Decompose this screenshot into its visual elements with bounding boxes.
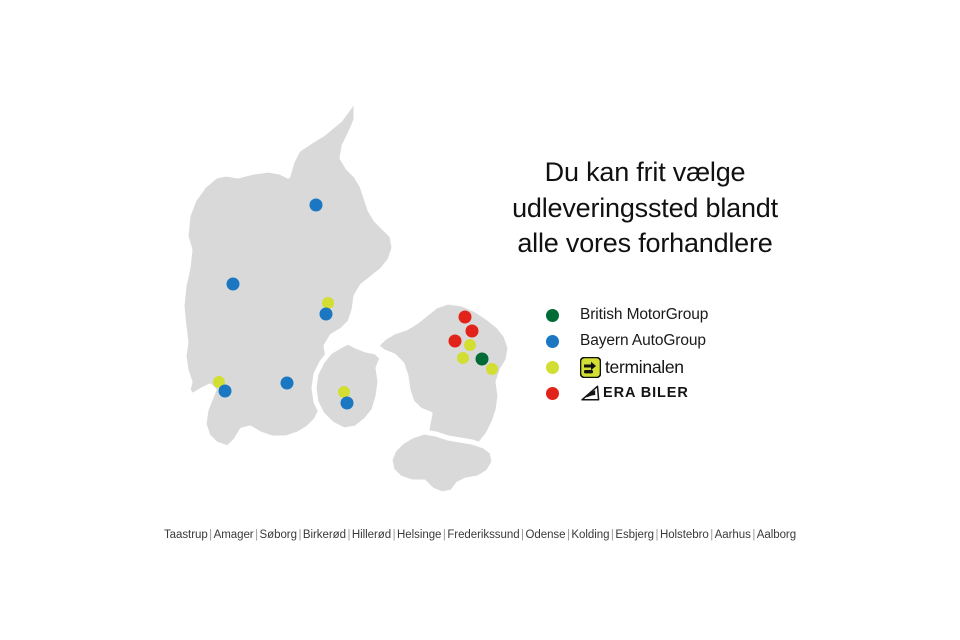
legend-label-british-motorgroup: British MotorGroup	[580, 306, 708, 324]
map-marker-odense-terminalen[interactable]: terminalen	[338, 386, 350, 398]
map-marker-soborg-terminalen[interactable]: terminalen	[457, 352, 469, 364]
city-name-aarhus: Aarhus	[715, 529, 751, 541]
city-name-holstebro: Holstebro	[660, 529, 709, 541]
legend-item-era-biler: ERA BILER	[546, 381, 826, 405]
map-marker-aalborg-bayern[interactable]: Bayern AutoGroup	[310, 199, 323, 212]
map-marker-soborg-british[interactable]: British MotorGroup	[476, 353, 489, 366]
legend-label-bayern-autogroup: Bayern AutoGroup	[580, 332, 706, 350]
map-marker-kolding-bayern[interactable]: Bayern AutoGroup	[281, 377, 294, 390]
city-name-amager: Amager	[214, 529, 254, 541]
map-marker-amager-terminalen[interactable]: terminalen	[486, 363, 498, 375]
legend-item-bayern-autogroup: Bayern AutoGroup	[546, 329, 826, 353]
terminalen-logo: terminalen	[580, 356, 684, 378]
map-marker-helsinge-era[interactable]: ERA BILER	[459, 311, 472, 324]
terminalen-wordmark: terminalen	[605, 357, 684, 378]
map-marker-holstebro-bayern[interactable]: Bayern AutoGroup	[227, 278, 240, 291]
terminalen-square-icon	[580, 357, 601, 378]
city-name-helsinge: Helsinge	[397, 529, 441, 541]
legend-item-terminalen: terminalen	[546, 355, 826, 379]
city-name-taastrup: Taastrup	[164, 529, 208, 541]
city-name-hillerød: Hillerød	[352, 529, 391, 541]
headline-line-2: udleveringssted blandt	[470, 191, 820, 227]
headline-line-3: alle vores forhandlere	[470, 226, 820, 262]
city-name-esbjerg: Esbjerg	[615, 529, 654, 541]
city-name-kolding: Kolding	[571, 529, 609, 541]
legend-item-british-motorgroup: British MotorGroup	[546, 303, 826, 327]
map-marker-frederikssund-era[interactable]: ERA BILER	[449, 335, 462, 348]
map-marker-esbjerg-bayern[interactable]: Bayern AutoGroup	[219, 385, 232, 398]
map-marker-hillerod-era[interactable]: ERA BILER	[466, 325, 479, 338]
map-legend: British MotorGroup Bayern AutoGroup term…	[546, 303, 826, 407]
map-svg: Denmark dealer location map Bayern AutoG…	[180, 90, 530, 500]
map-marker-odense-bayern[interactable]: Bayern AutoGroup	[341, 397, 354, 410]
map-marker-aarhus-terminalen[interactable]: terminalen	[322, 297, 334, 309]
map-marker-birkerod-terminalen[interactable]: terminalen	[464, 339, 476, 351]
denmark-map: Denmark dealer location map Bayern AutoG…	[180, 90, 530, 500]
city-name-odense: Odense	[525, 529, 565, 541]
city-name-frederikssund: Frederikssund	[447, 529, 519, 541]
era-biler-logo: ERA BILER	[580, 382, 689, 404]
map-landmasses	[182, 98, 510, 494]
legend-dot-blue	[546, 335, 559, 348]
poster-root: Denmark dealer location map Bayern AutoG…	[0, 0, 960, 640]
city-list: Taastrup|Amager|Søborg|Birkerød|Hillerød…	[0, 529, 960, 541]
page-title: Du kan frit vælge udleveringssted blandt…	[470, 155, 820, 262]
headline-line-1: Du kan frit vælge	[470, 155, 820, 191]
legend-dot-green	[546, 309, 559, 322]
city-name-aalborg: Aalborg	[757, 529, 796, 541]
legend-dot-yellow	[546, 361, 559, 374]
legend-dot-red	[546, 387, 559, 400]
city-name-søborg: Søborg	[260, 529, 297, 541]
era-biler-wordmark: ERA BILER	[603, 385, 689, 401]
city-name-birkerød: Birkerød	[303, 529, 346, 541]
era-triangle-icon	[580, 385, 600, 402]
map-marker-aarhus-bayern[interactable]: Bayern AutoGroup	[320, 308, 333, 321]
